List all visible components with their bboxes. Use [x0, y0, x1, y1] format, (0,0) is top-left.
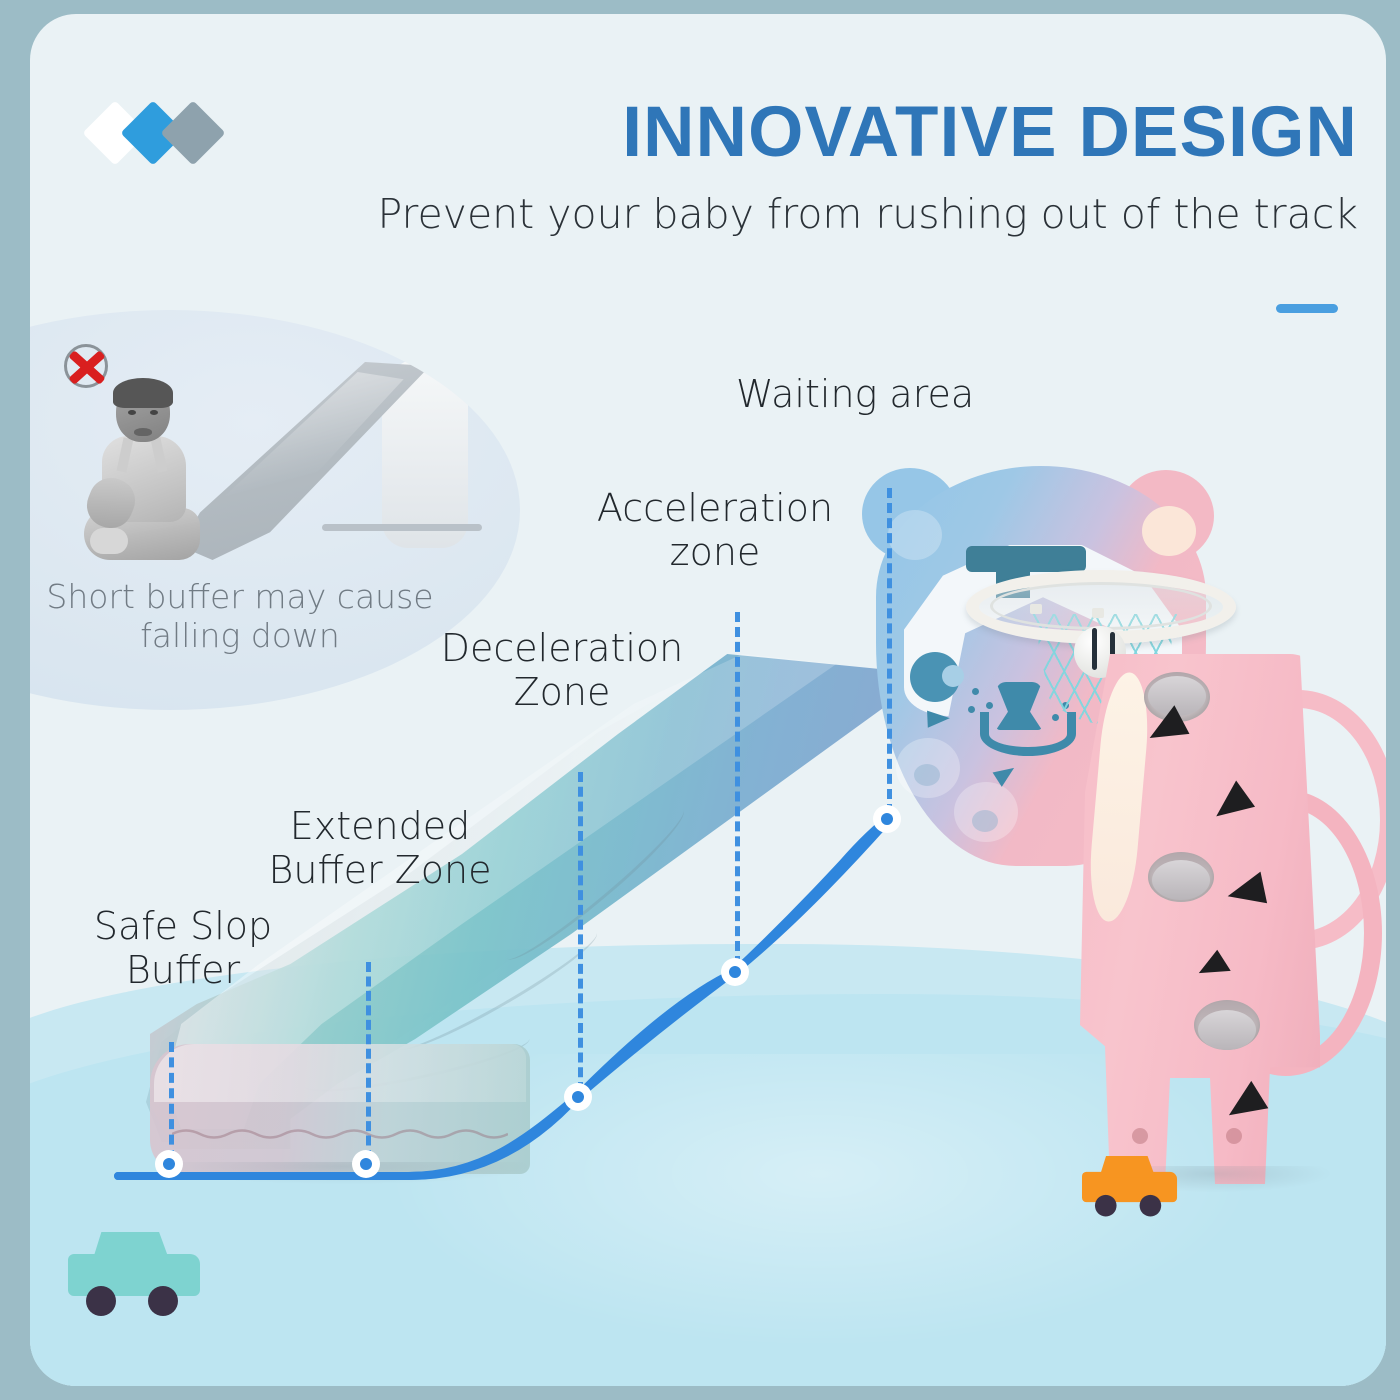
runout-pad-ripple	[172, 1126, 508, 1140]
car-cabin	[92, 1232, 170, 1262]
label-acceleration-zone: Acceleration zone	[570, 486, 860, 574]
ripple-svg	[172, 1126, 508, 1140]
label-safe-slop-buffer: Safe Slop Buffer	[38, 904, 328, 992]
car-wheel	[1140, 1195, 1162, 1217]
bear-paw-print	[954, 782, 1018, 842]
runout-pad-shadow	[158, 1162, 528, 1184]
bear-freckle	[1052, 714, 1059, 721]
bear-paw-print	[896, 738, 960, 798]
bear-mouth	[980, 712, 1076, 756]
car-wheel	[148, 1286, 178, 1316]
bear-ear-inner-left	[888, 510, 942, 560]
bear-ear-inner-right	[1142, 506, 1196, 556]
ladder-step	[1194, 1000, 1260, 1050]
poster-root: INNOVATIVE DESIGN Prevent your baby from…	[0, 0, 1400, 1400]
car-cabin	[1099, 1156, 1155, 1178]
bear-freckle	[968, 706, 975, 713]
step-knob	[1198, 1010, 1256, 1050]
paw-pad	[914, 764, 940, 786]
hoop-clip	[1030, 604, 1042, 614]
ladder-tower	[1070, 654, 1320, 1184]
car-wheel	[1095, 1195, 1117, 1217]
tower-accent-triangle	[1197, 949, 1230, 973]
label-extended-buffer-zone: Extended Buffer Zone	[230, 804, 530, 892]
hoop-inner-ring	[990, 582, 1212, 630]
label-deceleration-zone: Deceleration Zone	[412, 626, 712, 714]
tower-foot-hole	[1132, 1128, 1148, 1144]
paw-pad	[972, 810, 998, 832]
bear-freckle	[986, 702, 993, 709]
tower-accent-triangle	[1147, 704, 1190, 738]
poster-canvas: INNOVATIVE DESIGN Prevent your baby from…	[30, 14, 1386, 1386]
ladder-step	[1148, 852, 1214, 902]
label-waiting-area: Waiting area	[736, 372, 974, 416]
bear-freckle	[972, 688, 979, 695]
step-knob	[1152, 860, 1210, 900]
hoop-clip	[1092, 608, 1104, 618]
bear-eye	[910, 652, 960, 702]
car-wheel	[86, 1286, 116, 1316]
tower-foot-hole	[1226, 1128, 1242, 1144]
runout-pad-highlight	[154, 1044, 526, 1102]
